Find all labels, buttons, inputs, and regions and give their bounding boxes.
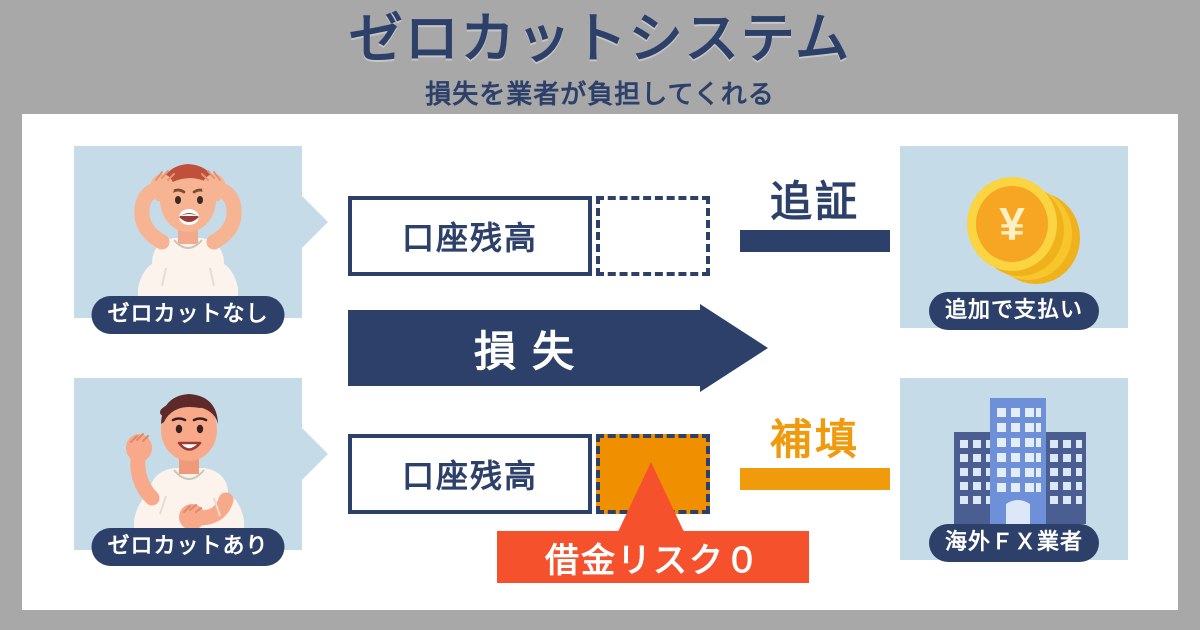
margin-call-label: 追証: [740, 182, 890, 224]
margin-call-bar: [740, 230, 890, 252]
panel-label-additional-payment: 追加で支払い: [929, 292, 1099, 330]
panel-label-with-zerocut: ゼロカットあり: [91, 528, 284, 566]
loss-arrow-head-icon: [700, 304, 768, 392]
row-no-zerocut: 口座残高 追証: [348, 196, 888, 278]
margin-call-group: 追証: [740, 182, 890, 252]
panel-additional-payment: ¥ 追加で支払い: [900, 146, 1128, 328]
page-title: ゼロカットシステム: [349, 12, 851, 66]
compensation-group: 補填: [740, 420, 890, 490]
shortfall-box-top: [596, 196, 710, 276]
panel-label-no-zerocut: ゼロカットなし: [91, 296, 284, 334]
panel-label-overseas-fx-broker: 海外ＦＸ業者: [929, 524, 1099, 562]
account-balance-label-bottom: 口座残高: [402, 451, 538, 497]
panel-no-zerocut: ゼロカットなし: [74, 146, 302, 318]
header: ゼロカットシステム 損失を業者が負担してくれる: [0, 0, 1200, 112]
risk-banner-arrow-icon: [617, 462, 685, 534]
account-balance-box-bottom: 口座残高: [348, 434, 592, 514]
page-subtitle: 損失を業者が負担してくれる: [425, 74, 774, 111]
risk-banner-label: 借金リスク０: [545, 533, 761, 582]
panel-pointer-icon: [302, 428, 328, 480]
risk-banner: 借金リスク０: [497, 531, 809, 583]
compensation-bar: [740, 468, 890, 490]
svg-text:¥: ¥: [999, 198, 1025, 250]
panel-overseas-fx-broker: 海外ＦＸ業者: [900, 378, 1128, 560]
panel-with-zerocut: ゼロカットあり: [74, 378, 302, 550]
account-balance-label-top: 口座残高: [402, 213, 538, 259]
panel-pointer-icon: [302, 196, 328, 248]
loss-arrow: 損失: [348, 310, 768, 386]
compensation-label: 補填: [740, 420, 890, 462]
account-balance-box-top: 口座残高: [348, 196, 592, 276]
loss-arrow-label: 損失: [348, 310, 700, 386]
